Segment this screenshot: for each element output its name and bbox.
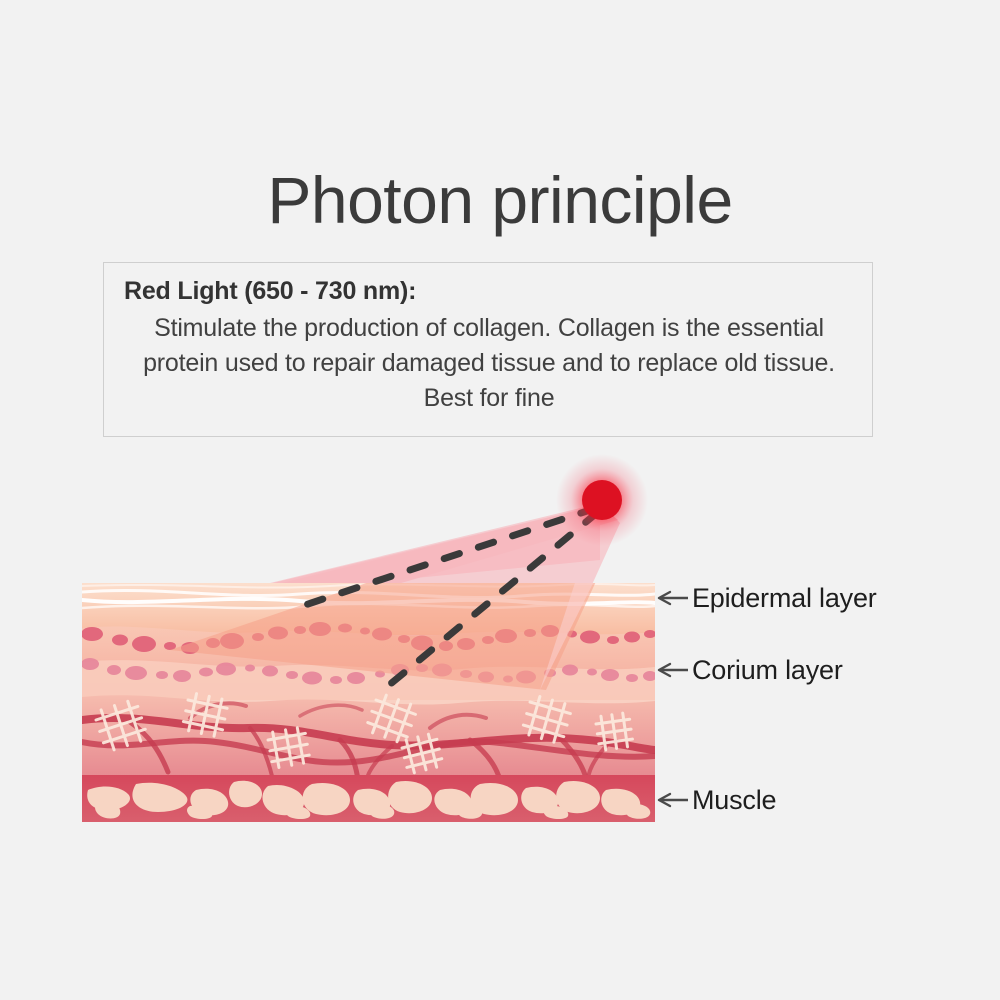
callout-arrow-muscle xyxy=(659,794,688,806)
callout-arrows xyxy=(659,592,688,806)
callout-label-corium: Corium layer xyxy=(692,655,843,686)
callout-arrow-corium xyxy=(659,664,688,676)
red-light-source xyxy=(556,454,648,546)
callout-label-muscle: Muscle xyxy=(692,785,776,816)
callout-label-epidermal: Epidermal layer xyxy=(692,583,877,614)
callout-arrow-epidermal xyxy=(659,592,688,604)
slide-canvas: Photon principle Red Light (650 - 730 nm… xyxy=(0,0,1000,1000)
skin-cross-section-diagram xyxy=(0,0,1000,1000)
light-dot xyxy=(582,480,622,520)
